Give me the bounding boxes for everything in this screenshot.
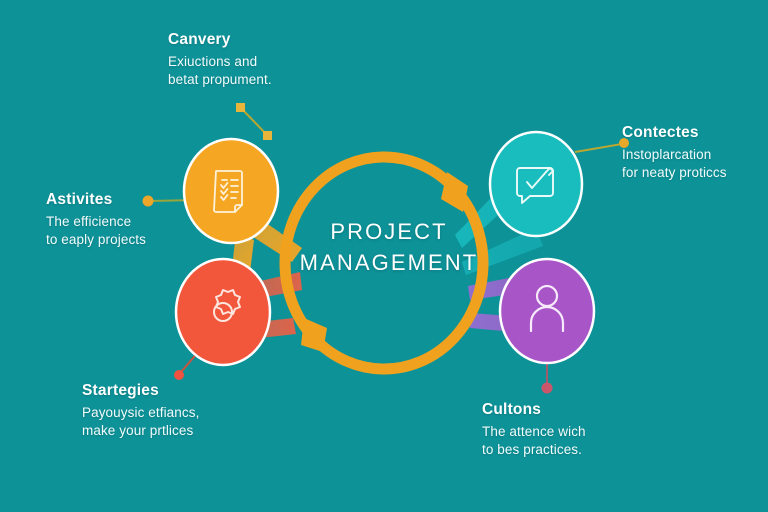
node-cultures-circle[interactable]	[500, 259, 594, 363]
label-startegies-line-1: Payouysic etfiancs,	[82, 404, 272, 422]
label-astivites: Astivites The efficience to eaply projec…	[46, 190, 206, 249]
label-contectes-line-1: Instoplarcation	[622, 146, 768, 164]
label-startegies-title: Startegies	[82, 381, 272, 401]
leader-dot-startegies-text	[174, 370, 184, 380]
label-canvery-line-2: betat propument.	[168, 71, 353, 89]
label-cultons-title: Cultons	[482, 400, 662, 420]
label-canvery-title: Canvery	[168, 30, 353, 50]
label-astivites-line-2: to eaply projects	[46, 231, 206, 249]
leader-dot-canvery-text	[236, 103, 245, 112]
label-cultons-line-2: to bes practices.	[482, 441, 662, 459]
leader-line-contectes	[575, 144, 622, 152]
label-canvery-line-1: Exiuctions and	[168, 53, 353, 71]
label-cultons-line-1: The attence wich	[482, 423, 662, 441]
node-cultures[interactable]	[500, 259, 594, 363]
label-startegies: Startegies Payouysic etfiancs, make your…	[82, 381, 272, 440]
infographic-canvas: PROJECT MANAGEMENT Canvery Exiuctions an…	[0, 0, 768, 512]
center-ring-notch-bottom-left	[301, 318, 327, 352]
label-astivites-title: Astivites	[46, 190, 206, 210]
label-contectes-title: Contectes	[622, 123, 768, 143]
leader-dot-canvery-node	[263, 131, 272, 140]
center-ring	[285, 157, 483, 369]
label-astivites-line-1: The efficience	[46, 213, 206, 231]
label-contectes-line-2: for neaty proticcs	[622, 164, 768, 182]
label-contectes: Contectes Instoplarcation for neaty prot…	[622, 123, 768, 182]
label-startegies-line-2: make your prtlices	[82, 422, 272, 440]
leader-dot-cultons-text	[542, 383, 553, 394]
node-strategies[interactable]	[176, 259, 270, 365]
label-cultons: Cultons The attence wich to bes practice…	[482, 400, 662, 459]
node-contacts[interactable]	[490, 132, 582, 236]
label-canvery: Canvery Exiuctions and betat propument.	[168, 30, 353, 89]
